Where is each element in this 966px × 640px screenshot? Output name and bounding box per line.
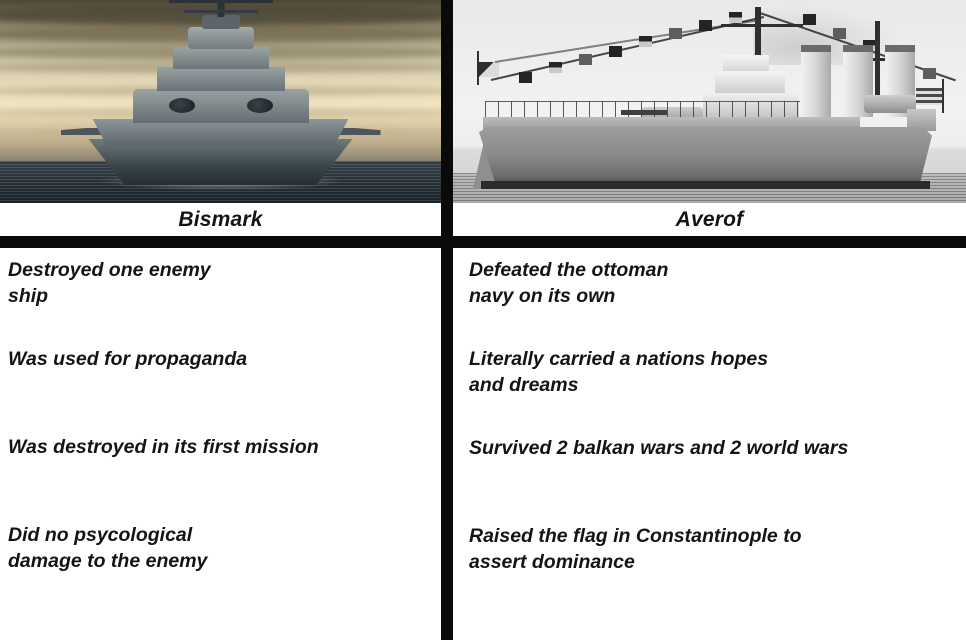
jack-flag bbox=[477, 62, 499, 77]
averof-photo bbox=[453, 0, 966, 203]
battleship-silhouette bbox=[61, 0, 381, 185]
mast-yard-upper bbox=[169, 0, 273, 3]
hull bbox=[479, 127, 932, 189]
signal-flag bbox=[729, 12, 742, 23]
caption-bismark: Bismark bbox=[0, 203, 441, 236]
signal-flag bbox=[833, 28, 846, 39]
signal-flag bbox=[609, 46, 622, 57]
signal-flag bbox=[519, 72, 532, 83]
signal-flag bbox=[549, 62, 562, 73]
list-item: Raised the flag in Constantinople to ass… bbox=[453, 524, 966, 576]
stern-flagstaff bbox=[942, 79, 944, 113]
funnel bbox=[801, 45, 831, 117]
superstructure-upper bbox=[173, 47, 269, 69]
armoured-cruiser-silhouette bbox=[471, 9, 950, 189]
list-item: Was destroyed in its first mission bbox=[0, 435, 441, 461]
vertical-divider bbox=[441, 0, 453, 640]
list-item: Was used for propaganda bbox=[0, 347, 441, 373]
column-bismark: Bismark Destroyed one enemy ship Was use… bbox=[0, 0, 441, 640]
column-averof: Averof Defeated the ottoman navy on its … bbox=[453, 0, 966, 640]
signal-flag bbox=[923, 68, 936, 79]
horizontal-divider bbox=[0, 236, 441, 248]
list-item: Defeated the ottoman navy on its own bbox=[453, 258, 966, 310]
signal-flag bbox=[803, 14, 816, 25]
foremast bbox=[755, 7, 761, 61]
bismark-photo bbox=[0, 0, 441, 203]
main-gun-turret bbox=[133, 89, 309, 123]
list-item: Did no psycological damage to the enemy bbox=[0, 523, 441, 575]
bridge bbox=[188, 27, 254, 49]
comparison-meme: Bismark Destroyed one enemy ship Was use… bbox=[0, 0, 966, 640]
list-item: Survived 2 balkan wars and 2 world wars bbox=[453, 436, 966, 462]
ship-name-label: Bismark bbox=[178, 208, 262, 232]
signal-flag bbox=[699, 20, 712, 31]
signal-flag bbox=[669, 28, 682, 39]
list-item: Destroyed one enemy ship bbox=[0, 258, 441, 310]
caption-averof: Averof bbox=[453, 203, 966, 236]
waterline-boot-topping bbox=[481, 181, 930, 189]
bismark-point-list: Destroyed one enemy ship Was used for pr… bbox=[0, 248, 441, 640]
foremast-yard bbox=[721, 24, 803, 27]
signal-flag bbox=[579, 54, 592, 65]
averof-point-list: Defeated the ottoman navy on its own Lit… bbox=[453, 248, 966, 640]
list-item: Literally carried a nations hopes and dr… bbox=[453, 347, 966, 399]
mainmast bbox=[875, 21, 880, 99]
horizontal-divider bbox=[453, 236, 966, 248]
signal-flag bbox=[639, 36, 652, 47]
mast-base bbox=[202, 15, 240, 29]
superstructure-lower bbox=[157, 67, 285, 91]
greek-ensign-flag bbox=[916, 88, 942, 105]
ship-name-label: Averof bbox=[676, 208, 744, 232]
mast-yard-lower bbox=[184, 10, 258, 13]
